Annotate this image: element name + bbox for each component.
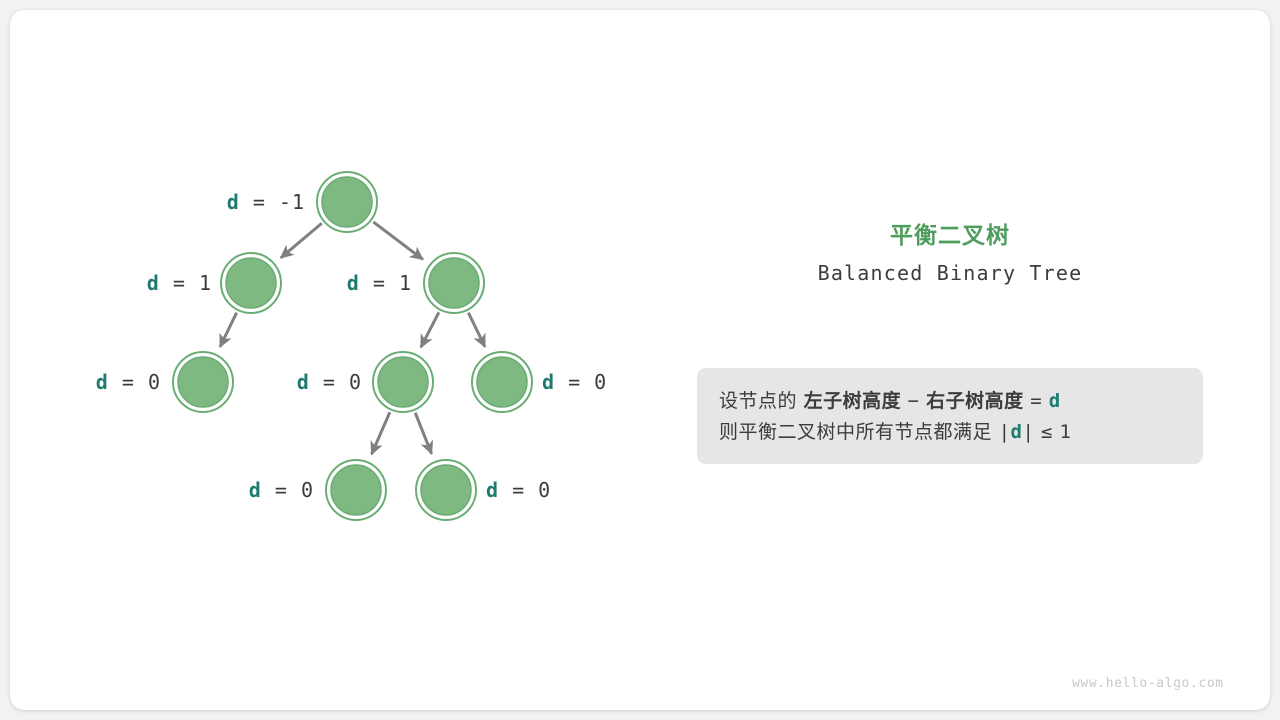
node-body bbox=[226, 258, 276, 308]
abs-bar-open: | bbox=[999, 421, 1011, 443]
balance-value: = 1 bbox=[360, 271, 412, 295]
condition-prefix: 则平衡二叉树中所有节点都满足 bbox=[719, 421, 992, 443]
node-body bbox=[378, 357, 428, 407]
bound-value: 1 bbox=[1059, 421, 1071, 443]
balance-variable-d: d bbox=[297, 370, 310, 394]
tree-nodes bbox=[173, 172, 532, 520]
binary-tree-diagram bbox=[0, 0, 1280, 720]
variable-d: d bbox=[1049, 390, 1061, 412]
tree-edge bbox=[415, 413, 431, 454]
relation-operator: ≤ bbox=[1041, 421, 1053, 443]
node-balance-label: d = 1 bbox=[147, 273, 212, 293]
balance-value: = 1 bbox=[160, 271, 212, 295]
definition-line-2: 则平衡二叉树中所有节点都满足 |d| ≤ 1 bbox=[719, 417, 1181, 448]
node-body bbox=[178, 357, 228, 407]
page-subtitle: Balanced Binary Tree bbox=[697, 261, 1203, 286]
equals-operator: = bbox=[1030, 390, 1042, 412]
balance-value: = 0 bbox=[555, 370, 607, 394]
balance-variable-d: d bbox=[96, 370, 109, 394]
right-subtree-height-term: 右子树高度 bbox=[926, 390, 1024, 412]
node-body bbox=[429, 258, 479, 308]
balance-variable-d: d bbox=[147, 271, 160, 295]
node-body bbox=[421, 465, 471, 515]
watermark-text: www.hello-algo.com bbox=[1072, 676, 1224, 691]
balance-value: = 0 bbox=[310, 370, 362, 394]
tree-edge bbox=[373, 222, 423, 260]
tree-node[interactable] bbox=[221, 253, 281, 313]
node-body bbox=[322, 177, 372, 227]
tree-edge bbox=[372, 412, 390, 454]
variable-d-abs: d bbox=[1011, 421, 1023, 443]
tree-node[interactable] bbox=[424, 253, 484, 313]
balance-variable-d: d bbox=[347, 271, 360, 295]
definition-box: 设节点的 左子树高度 − 右子树高度 = d 则平衡二叉树中所有节点都满足 |d… bbox=[697, 368, 1203, 464]
node-balance-label: d = 0 bbox=[486, 480, 551, 500]
balance-value: = 0 bbox=[262, 478, 314, 502]
node-balance-label: d = 0 bbox=[297, 372, 362, 392]
definition-line-1: 设节点的 左子树高度 − 右子树高度 = d bbox=[719, 386, 1181, 417]
tree-node[interactable] bbox=[317, 172, 377, 232]
balance-variable-d: d bbox=[486, 478, 499, 502]
node-balance-label: d = 0 bbox=[96, 372, 161, 392]
abs-bar-close: | bbox=[1022, 421, 1034, 443]
balance-value: = -1 bbox=[240, 190, 305, 214]
tree-edge bbox=[421, 312, 439, 347]
minus-operator: − bbox=[908, 390, 920, 412]
node-balance-label: d = -1 bbox=[227, 192, 305, 212]
balance-variable-d: d bbox=[249, 478, 262, 502]
tree-edge bbox=[220, 313, 237, 347]
balance-variable-d: d bbox=[227, 190, 240, 214]
node-balance-label: d = 1 bbox=[347, 273, 412, 293]
panel-text-block: 平衡二叉树 Balanced Binary Tree bbox=[697, 222, 1203, 286]
node-body bbox=[331, 465, 381, 515]
diagram-page: d = -1d = 1d = 1d = 0d = 0d = 0d = 0d = … bbox=[0, 0, 1280, 720]
definition-prefix: 设节点的 bbox=[719, 390, 797, 412]
tree-edge bbox=[281, 223, 322, 258]
tree-edges bbox=[220, 222, 485, 454]
tree-node[interactable] bbox=[326, 460, 386, 520]
node-body bbox=[477, 357, 527, 407]
tree-edge bbox=[468, 313, 485, 347]
balance-variable-d: d bbox=[542, 370, 555, 394]
page-title: 平衡二叉树 bbox=[697, 222, 1203, 251]
tree-node[interactable] bbox=[373, 352, 433, 412]
balance-value: = 0 bbox=[109, 370, 161, 394]
tree-node[interactable] bbox=[416, 460, 476, 520]
balance-value: = 0 bbox=[499, 478, 551, 502]
node-balance-label: d = 0 bbox=[249, 480, 314, 500]
left-subtree-height-term: 左子树高度 bbox=[804, 390, 902, 412]
tree-node[interactable] bbox=[472, 352, 532, 412]
node-balance-label: d = 0 bbox=[542, 372, 607, 392]
tree-node[interactable] bbox=[173, 352, 233, 412]
